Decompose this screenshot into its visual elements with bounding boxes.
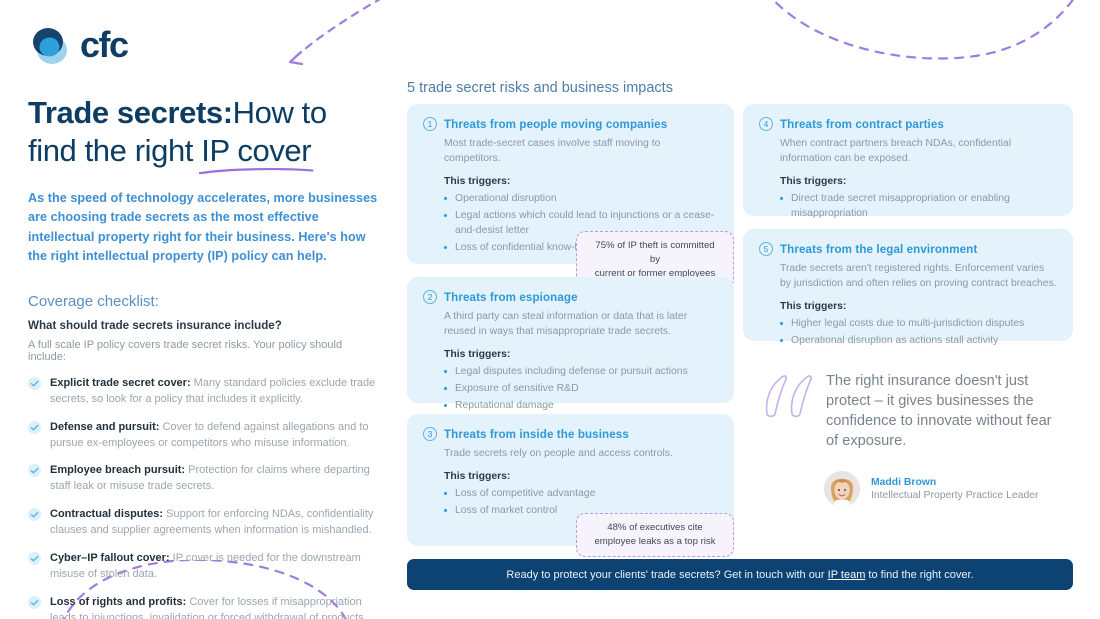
stat-line-1: 75% of IP theft is committed by <box>589 239 721 267</box>
list-item: Contractual disputes: Support for enforc… <box>28 507 380 539</box>
coverage-lead: A full scale IP policy covers trade secr… <box>28 339 380 363</box>
coverage-checklist-title: Coverage checklist: <box>28 293 380 310</box>
number-badge-icon: 3 <box>423 427 437 441</box>
bullet-dot-icon <box>444 246 447 249</box>
cta-text: Ready to protect your clients' trade sec… <box>506 569 973 581</box>
bullet-dot-icon <box>444 387 447 390</box>
bullet-dot-icon <box>780 322 783 325</box>
list-item: Direct trade secret misappropriation or … <box>780 191 1057 221</box>
bullet-text: Loss of confidential know-how <box>455 240 594 255</box>
card-bullets: Direct trade secret misappropriation or … <box>780 191 1057 221</box>
testimonial-block: The right insurance doesn't just protect… <box>762 372 1062 507</box>
testimonial-text: The right insurance doesn't just protect… <box>826 372 1062 451</box>
headline-highlight-wrap: IP cover <box>201 133 311 168</box>
card-title: Threats from contract parties <box>780 118 944 131</box>
risk-card-2: 2 Threats from espionage A third party c… <box>407 277 734 403</box>
risk-card-4: 4 Threats from contract parties When con… <box>743 104 1073 216</box>
bullet-dot-icon <box>780 197 783 200</box>
triggers-label: This triggers: <box>780 301 1057 312</box>
list-item: Loss of competitive advantage <box>444 486 718 501</box>
cta-bar[interactable]: Ready to protect your clients' trade sec… <box>407 559 1073 590</box>
bullet-dot-icon <box>444 404 447 407</box>
list-item: Reputational damage <box>444 398 718 413</box>
cta-text-before: Ready to protect your clients' trade sec… <box>506 569 827 581</box>
bullet-text: Legal disputes including defense or purs… <box>455 364 688 379</box>
card-title: Threats from inside the business <box>444 428 629 441</box>
bullet-dot-icon <box>444 492 447 495</box>
triggers-label: This triggers: <box>444 176 718 187</box>
list-item: Cyber–IP fallout cover: IP cover is need… <box>28 551 380 583</box>
avatar <box>824 471 860 507</box>
quote-mark-icon <box>762 374 816 423</box>
author-name: Maddi Brown <box>871 477 1039 488</box>
page-subtitle: As the speed of technology accelerates, … <box>28 189 380 267</box>
card-title: Threats from espionage <box>444 291 578 304</box>
bullet-dot-icon <box>780 339 783 342</box>
card-title: Threats from people moving companies <box>444 118 667 131</box>
check-circle-icon <box>28 552 41 565</box>
list-item: Explicit trade secret cover: Many standa… <box>28 376 380 408</box>
coverage-checklist: Explicit trade secret cover: Many standa… <box>28 376 380 619</box>
stat-line-1: 48% of executives cite <box>589 521 721 535</box>
stat-line-2: employee leaks as a top risk <box>589 535 721 549</box>
check-item-text: Employee breach pursuit: Protection for … <box>50 463 380 495</box>
brand-logo[interactable]: cfc <box>28 22 380 68</box>
card-description: Most trade-secret cases involve staff mo… <box>444 136 718 166</box>
list-item: Higher legal costs due to multi-jurisdic… <box>780 316 1057 331</box>
check-circle-icon <box>28 421 41 434</box>
card-header: 2 Threats from espionage <box>423 290 718 304</box>
page-title: Trade secrets:How to find the right IP c… <box>28 94 380 170</box>
card-description: Trade secrets aren't registered rights. … <box>780 261 1057 291</box>
risks-section-title: 5 trade secret risks and business impact… <box>407 80 673 96</box>
cfc-logo-mark <box>28 22 74 68</box>
list-item: Operational disruption as actions stall … <box>780 333 1057 348</box>
bullet-text: Higher legal costs due to multi-jurisdic… <box>791 316 1024 331</box>
triggers-label: This triggers: <box>444 471 718 482</box>
number-badge-icon: 5 <box>759 242 773 256</box>
bullet-text: Direct trade secret misappropriation or … <box>791 191 1057 221</box>
cta-text-after: to find the right cover. <box>865 569 973 581</box>
number-badge-icon: 1 <box>423 117 437 131</box>
check-item-text: Cyber–IP fallout cover: IP cover is need… <box>50 551 380 583</box>
cfc-logo-text: cfc <box>80 27 128 63</box>
triggers-label: This triggers: <box>444 349 718 360</box>
list-item: Legal disputes including defense or purs… <box>444 364 718 379</box>
check-item-bold: Defense and pursuit: <box>50 421 159 433</box>
check-item-bold: Loss of rights and profits: <box>50 596 186 608</box>
check-circle-icon <box>28 377 41 390</box>
author-info: Maddi Brown Intellectual Property Practi… <box>871 477 1039 501</box>
check-item-text: Defense and pursuit: Cover to defend aga… <box>50 420 380 452</box>
left-column: cfc Trade secrets:How to find the right … <box>28 22 380 619</box>
check-circle-icon <box>28 596 41 609</box>
check-item-text: Loss of rights and profits: Cover for lo… <box>50 595 380 619</box>
ip-team-link[interactable]: IP team <box>828 569 866 581</box>
card-header: 1 Threats from people moving companies <box>423 117 718 131</box>
bullet-text: Operational disruption as actions stall … <box>791 333 998 348</box>
bullet-text: Exposure of sensitive R&D <box>455 381 579 396</box>
card-description: Trade secrets rely on people and access … <box>444 446 718 461</box>
card-header: 3 Threats from inside the business <box>423 427 718 441</box>
list-item: Employee breach pursuit: Protection for … <box>28 463 380 495</box>
bullet-text: Loss of market control <box>455 503 557 518</box>
number-badge-icon: 4 <box>759 117 773 131</box>
bullet-dot-icon <box>444 214 447 217</box>
check-circle-icon <box>28 464 41 477</box>
testimonial-author: Maddi Brown Intellectual Property Practi… <box>824 471 1062 507</box>
check-item-bold: Explicit trade secret cover: <box>50 377 191 389</box>
number-badge-icon: 2 <box>423 290 437 304</box>
list-item: Defense and pursuit: Cover to defend aga… <box>28 420 380 452</box>
card-bullets: Higher legal costs due to multi-jurisdic… <box>780 316 1057 348</box>
card-header: 5 Threats from the legal environment <box>759 242 1057 256</box>
stat-badge-2: 48% of executives cite employee leaks as… <box>576 513 734 557</box>
check-item-text: Contractual disputes: Support for enforc… <box>50 507 380 539</box>
card-description: When contract partners breach NDAs, conf… <box>780 136 1057 166</box>
headline-highlight: IP cover <box>201 133 311 168</box>
bullet-dot-icon <box>444 370 447 373</box>
coverage-question: What should trade secrets insurance incl… <box>28 319 380 332</box>
card-header: 4 Threats from contract parties <box>759 117 1057 131</box>
risk-card-5: 5 Threats from the legal environment Tra… <box>743 229 1073 341</box>
headline-bold: Trade secrets: <box>28 95 233 130</box>
dashed-arc-top-icon <box>735 0 1100 63</box>
check-item-text: Explicit trade secret cover: Many standa… <box>50 376 380 408</box>
bullet-text: Loss of competitive advantage <box>455 486 595 501</box>
card-bullets: Legal disputes including defense or purs… <box>444 364 718 413</box>
infographic-page: cfc Trade secrets:How to find the right … <box>0 0 1100 619</box>
card-title: Threats from the legal environment <box>780 243 977 256</box>
check-item-bold: Employee breach pursuit: <box>50 464 185 476</box>
bullet-text: Reputational damage <box>455 398 554 413</box>
list-item: Loss of rights and profits: Cover for lo… <box>28 595 380 619</box>
check-item-bold: Cyber–IP fallout cover: <box>50 552 170 564</box>
card-description: A third party can steal information or d… <box>444 309 718 339</box>
underline-swoosh-icon <box>199 167 313 175</box>
author-role: Intellectual Property Practice Leader <box>871 490 1039 501</box>
list-item: Operational disruption <box>444 191 718 206</box>
check-item-bold: Contractual disputes: <box>50 508 163 520</box>
bullet-dot-icon <box>444 509 447 512</box>
bullet-dot-icon <box>444 197 447 200</box>
triggers-label: This triggers: <box>780 176 1057 187</box>
check-circle-icon <box>28 508 41 521</box>
bullet-text: Operational disruption <box>455 191 557 206</box>
list-item: Exposure of sensitive R&D <box>444 381 718 396</box>
